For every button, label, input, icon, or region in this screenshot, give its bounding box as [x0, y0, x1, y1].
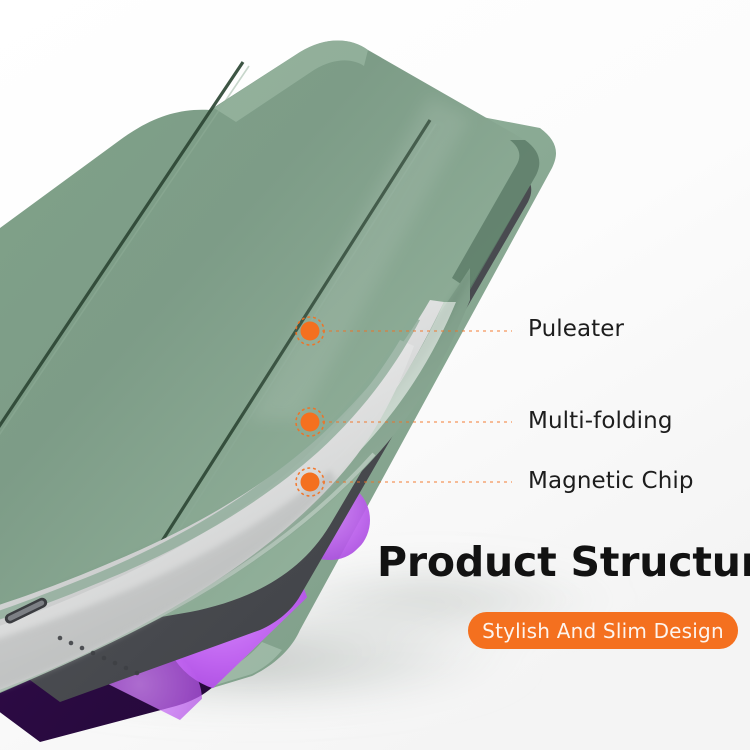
- callout-label-magnetic-chip: Magnetic Chip: [528, 470, 694, 493]
- orange-dot-marker: [301, 413, 320, 432]
- subtitle-pill-text: Stylish And Slim Design: [482, 619, 724, 643]
- product-structure-infographic: Puleater Multi-folding Magnetic Chip Pro…: [0, 0, 750, 750]
- callout-label-multi-folding: Multi-folding: [528, 410, 673, 433]
- orange-dot-marker: [301, 473, 320, 492]
- headline-product-structure: Product Structure: [377, 542, 750, 583]
- orange-dot-marker: [301, 322, 320, 341]
- callout-label-puleater: Puleater: [528, 318, 624, 341]
- subtitle-pill-badge: Stylish And Slim Design: [468, 612, 738, 649]
